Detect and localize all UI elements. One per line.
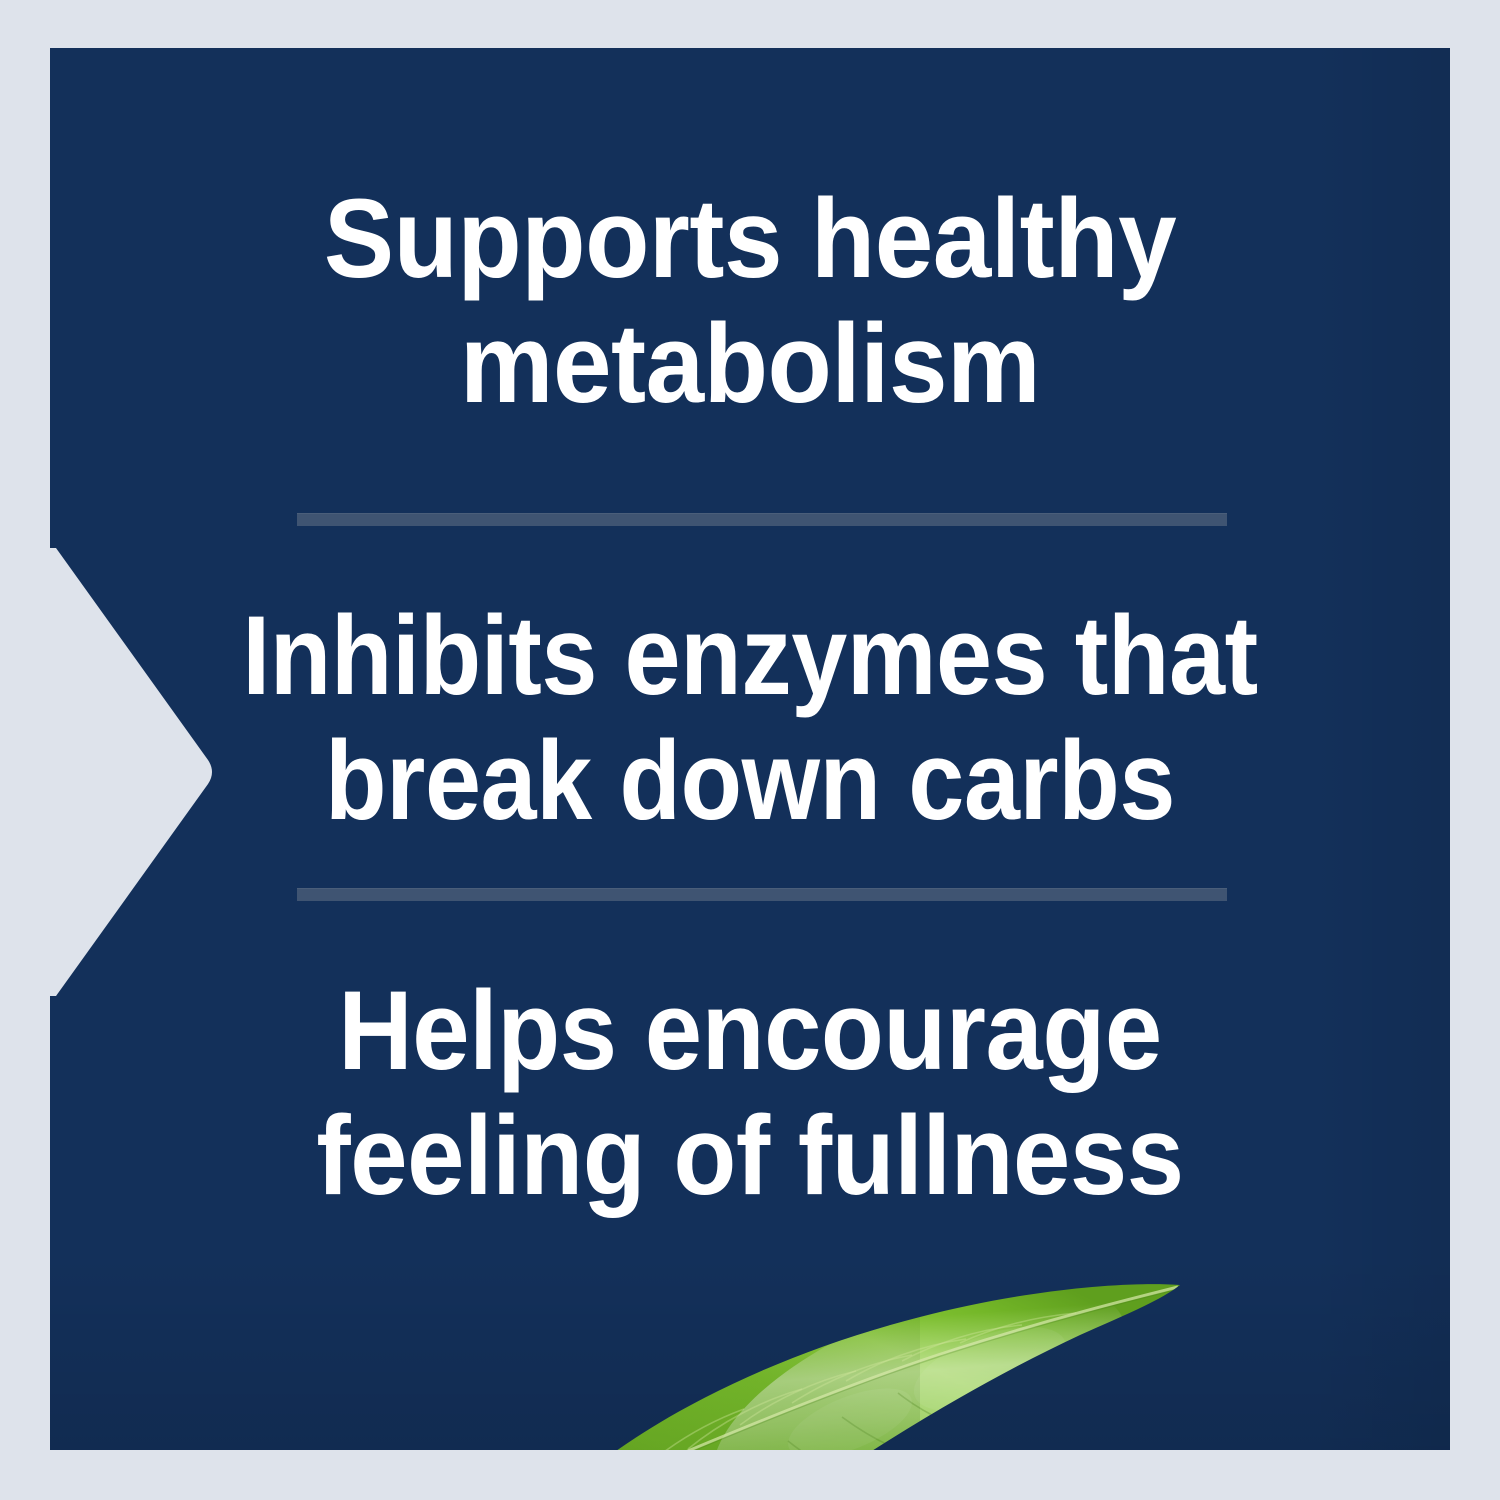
benefit-enzymes: Inhibits enzymes that break down carbs bbox=[120, 593, 1380, 844]
benefit-enzymes-line2: break down carbs bbox=[120, 718, 1380, 843]
navy-panel: Supports healthy metabolism Inhibits enz… bbox=[50, 48, 1450, 1450]
benefit-enzymes-line1: Inhibits enzymes that bbox=[120, 593, 1380, 718]
benefit-metabolism-line1: Supports healthy bbox=[92, 176, 1408, 301]
divider-2 bbox=[297, 888, 1227, 901]
feature-panel-image: Supports healthy metabolism Inhibits enz… bbox=[0, 0, 1500, 1500]
benefit-metabolism: Supports healthy metabolism bbox=[92, 176, 1408, 427]
benefits-list: Supports healthy metabolism Inhibits enz… bbox=[50, 48, 1450, 1450]
benefit-fullness: Helps encourage feeling of fullness bbox=[106, 968, 1394, 1219]
chevron-right-icon bbox=[50, 548, 218, 998]
benefit-fullness-line2: feeling of fullness bbox=[106, 1093, 1394, 1218]
benefit-fullness-line1: Helps encourage bbox=[106, 968, 1394, 1093]
benefit-metabolism-line2: metabolism bbox=[92, 301, 1408, 426]
divider-1 bbox=[297, 513, 1227, 526]
